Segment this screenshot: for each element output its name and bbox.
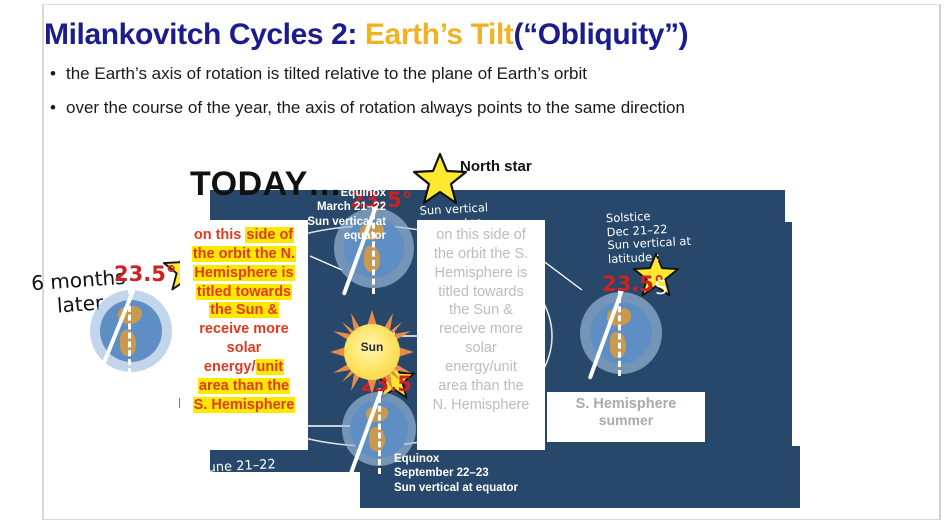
sun-label: Sun [330,340,414,354]
callout-north-line: solar [184,339,304,358]
handwriting-solstice-december: Solstice Dec 21–22 Sun vertical at latit… [606,208,692,267]
bullet-marker-icon: • [50,64,66,84]
callout-south-line: solar [421,339,541,358]
callout-south-line: Hemisphere is [421,264,541,283]
bullet-item-2: •over the course of the year, the axis o… [50,98,685,118]
bullet-text-1: the Earth’s axis of rotation is tilted r… [66,64,587,83]
callout-south-line: the Sun & [421,301,541,320]
equinox-september-label: Equinox September 22–23 Sun vertical at … [394,452,518,495]
tilt-angle-left: 23.5° [114,262,176,286]
callout-south-line: receive more [421,320,541,339]
callout-north-line: Hemisphere is [184,264,304,283]
landmass [369,427,385,451]
callout-north-line: energy/unit [184,358,304,377]
slide-canvas: Milankovitch Cycles 2: Earth’s Tilt(“Obl… [0,0,944,527]
handwriting-solstice-hemisphere-suffix: S [654,277,668,300]
callout-south-line: titled towards [421,283,541,302]
title-part-highlight: Earth’s Tilt [365,18,514,51]
orbit-diagram: TODAY… 6 months later North star [42,140,941,520]
bullet-item-1: •the Earth’s axis of rotation is tilted … [50,64,587,84]
callout-north-line: on this side of [184,226,304,245]
callout-north-line: the orbit the N. [184,245,304,264]
hemisphere-banner-south: S. Hemisphere summer [547,392,705,442]
callout-north-line: area than the [184,377,304,396]
callout-south-line: on this side of [421,226,541,245]
sun-icon: Sun [330,310,414,394]
callout-north-line: titled towards [184,283,304,302]
callout-south-hemisphere: on this side ofthe orbit the S.Hemispher… [417,220,545,450]
callout-south-line: energy/unit [421,358,541,377]
callout-south-line: N. Hemisphere [421,396,541,415]
hemisphere-south-season: summer [547,412,705,428]
bullet-marker-icon: • [50,98,66,118]
callout-north-line: S. Hemisphere [184,396,304,415]
north-star-label: North star [460,158,532,175]
handwriting-june-solstice: June 21–22 Sun vertical 23.5°N [201,456,281,513]
bullet-text-2: over the course of the year, the axis of… [66,98,685,117]
callout-south-line: area than the [421,377,541,396]
callout-north-line: the Sun & [184,301,304,320]
callout-south-line: the orbit the S. [421,245,541,264]
title-part-main: Milankovitch Cycles 2: [44,18,365,51]
title-part-paren: (“Obliquity”) [514,18,689,51]
page-title: Milankovitch Cycles 2: Earth’s Tilt(“Obl… [44,18,688,52]
hemisphere-south-title: S. Hemisphere [547,396,705,412]
callout-north-line: receive more [184,320,304,339]
callout-north-hemisphere: on this side ofthe orbit the N.Hemispher… [180,220,308,450]
